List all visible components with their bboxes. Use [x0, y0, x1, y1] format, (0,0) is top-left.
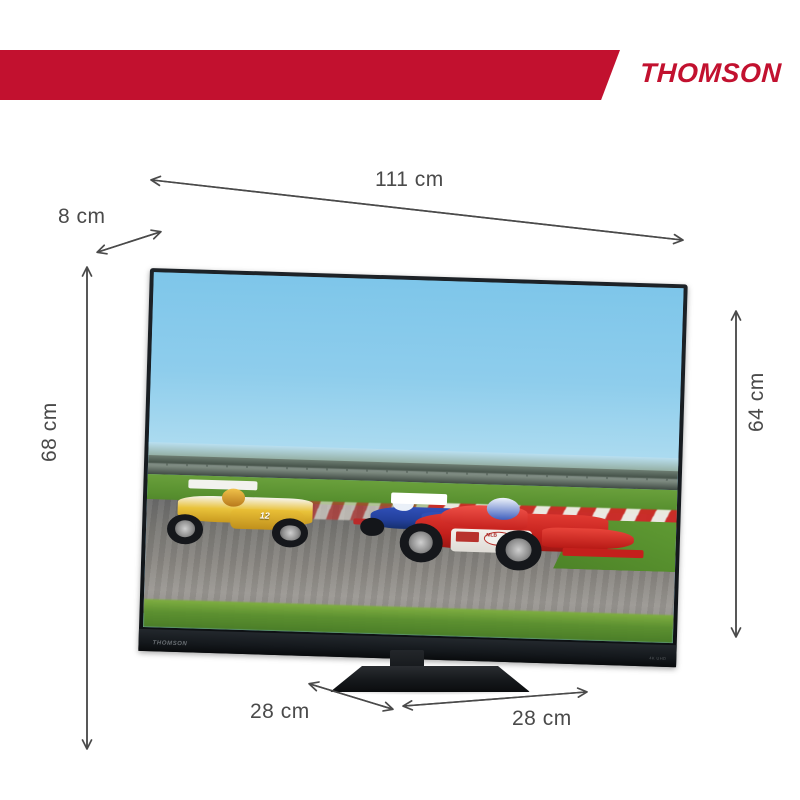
tv-screen: 12 MLB — [143, 272, 684, 643]
red-car-sponsor-block — [456, 532, 479, 543]
red-car-rear-rim — [409, 531, 434, 553]
yellow-car-rear-rim — [175, 520, 196, 537]
race-car-red: MLB — [383, 485, 640, 585]
label-stand-width-28: 28 cm — [512, 707, 572, 731]
blue-car-rear-wheel — [360, 517, 384, 536]
label-stand-depth-28: 28 cm — [250, 700, 310, 724]
label-screen-height-64: 64 cm — [745, 372, 769, 432]
label-depth-8: 8 cm — [58, 205, 106, 229]
label-width-111: 111 cm — [375, 168, 444, 192]
tv-stand-shadow — [322, 688, 536, 695]
yellow-car-front-wheel — [272, 518, 309, 547]
race-car-yellow: 12 — [167, 479, 333, 551]
thomson-brand-logo: THOMSON — [639, 58, 782, 89]
yellow-car-rear-wheel — [167, 514, 204, 545]
red-car-front-wing — [562, 548, 644, 559]
header-banner — [0, 50, 620, 100]
label-total-height-68: 68 cm — [38, 402, 62, 462]
yellow-car-rear-wing — [188, 479, 257, 490]
tv-body: 12 MLB — [138, 268, 687, 667]
red-car-rear-wheel — [399, 523, 443, 563]
red-car-front-rim — [506, 538, 532, 562]
tv-bezel-brand-logo: THOMSON — [152, 640, 187, 647]
red-car-rear-wing — [390, 493, 446, 506]
television-product-image: 12 MLB — [150, 268, 690, 656]
yellow-car-driver-helmet — [222, 488, 246, 506]
tv-bezel-badge: 4K UHD — [649, 655, 666, 661]
arrow-depth-8 — [98, 232, 160, 252]
screen-sky — [148, 272, 683, 466]
yellow-car-front-rim — [280, 525, 301, 541]
product-dimension-diagram: THOMSON — [0, 0, 800, 800]
red-car-nose — [542, 527, 634, 550]
